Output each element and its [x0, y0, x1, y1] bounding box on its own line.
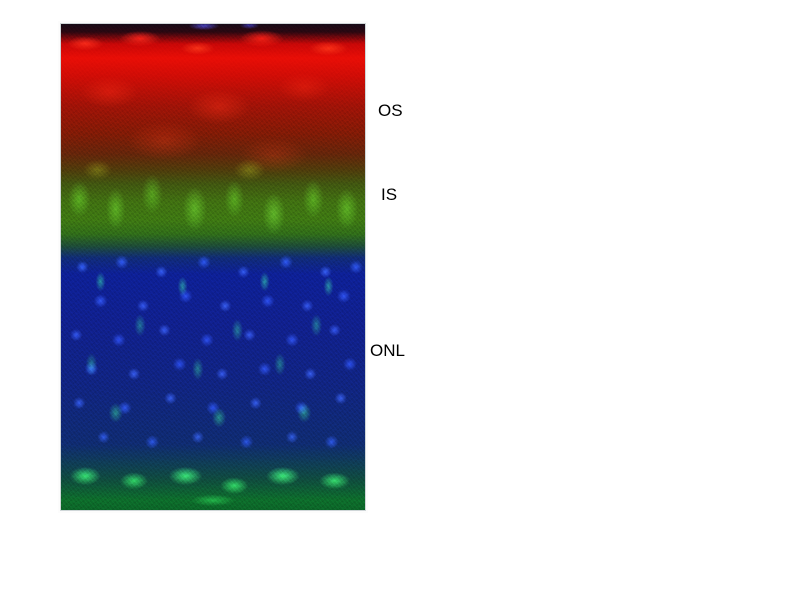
layer-label-onl: ONL [370, 341, 405, 361]
layer-label-is: IS [381, 185, 397, 205]
micrograph-grain-overlay [61, 24, 365, 510]
figure-panel [58, 21, 368, 513]
retina-micrograph-image [61, 24, 365, 510]
layer-label-os: OS [378, 101, 403, 121]
